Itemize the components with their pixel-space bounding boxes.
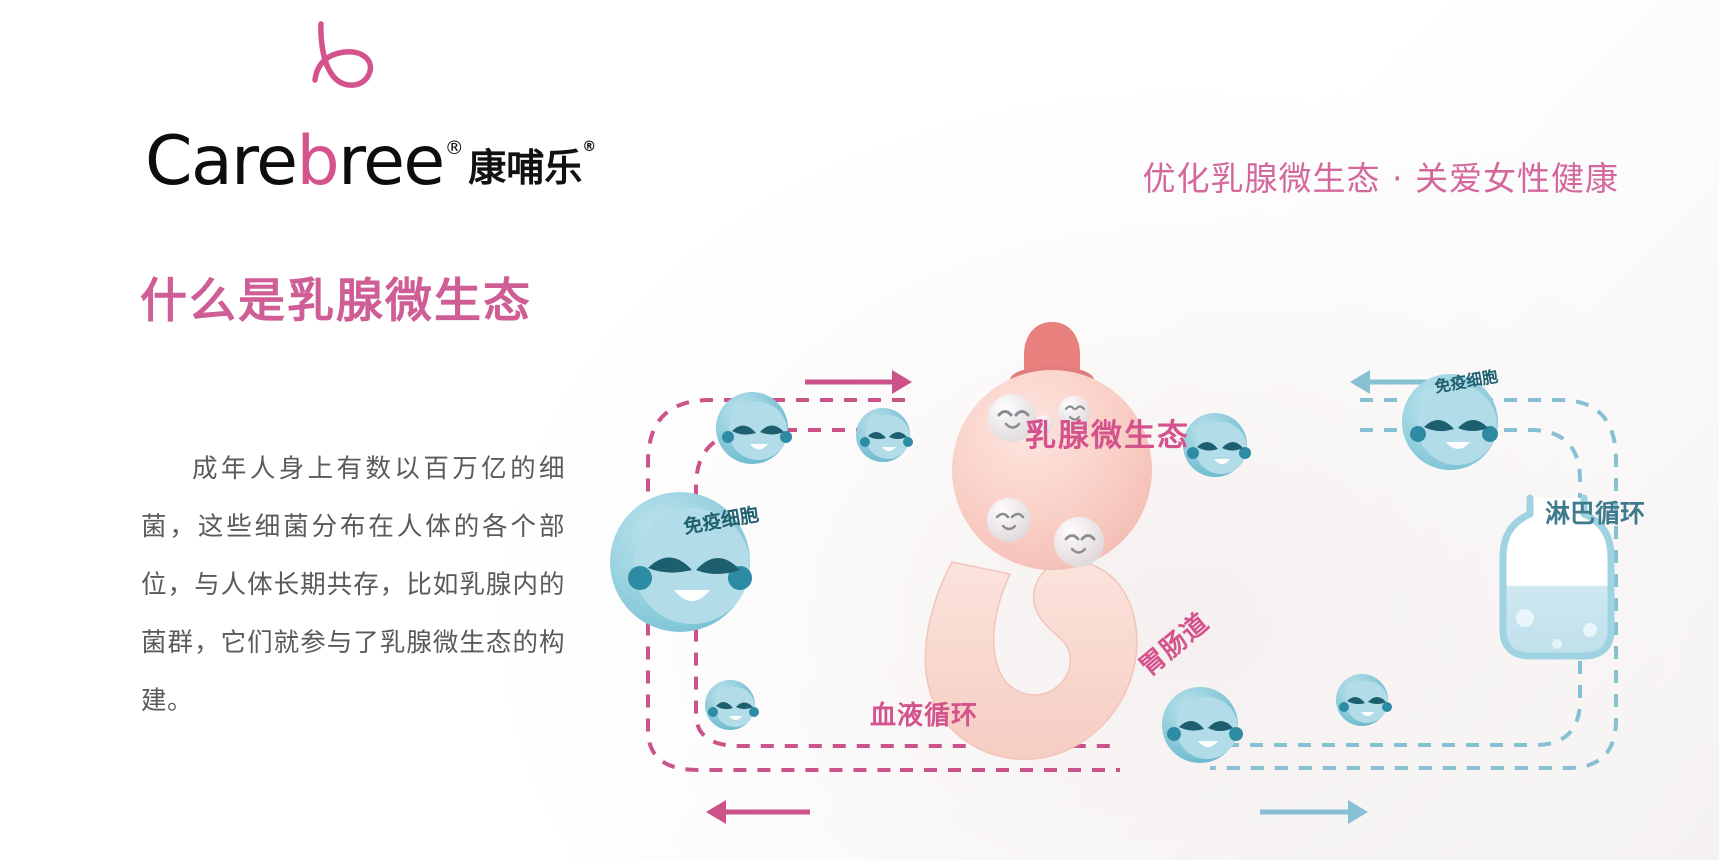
immune-cell-small-3: [705, 680, 759, 730]
gi-tract-illustration: [925, 561, 1137, 759]
page-title: 什么是乳腺微生态: [140, 262, 532, 331]
immune-cell-right-top: [1402, 374, 1498, 470]
immune-cell-right-corner: [1336, 674, 1392, 726]
logo-text-care: Care: [145, 128, 296, 196]
logo-chinese-name: 康哺乐®: [468, 137, 596, 192]
immune-cell-small-2: [856, 408, 913, 462]
lymph-bottle-illustration: [1503, 498, 1611, 656]
logo-chinese-text: 康哺乐: [468, 146, 582, 190]
logo-swoosh-icon: [291, 18, 411, 96]
body-paragraph: 成年人身上有数以百万亿的细菌，这些细菌分布在人体的各个部位，与人体长期共存，比如…: [141, 440, 565, 730]
breast-illustration: [952, 322, 1152, 570]
logo-wordmark: Carebree®: [145, 128, 461, 196]
immune-cell-right-mid: [1183, 413, 1251, 477]
immune-cell-left: [610, 492, 752, 632]
logo-text-b: b: [296, 128, 338, 196]
microbiome-diagram: [600, 300, 1660, 860]
registered-mark-icon: ®: [445, 139, 463, 158]
logo-text-ree: ree: [338, 128, 444, 196]
header-tagline: 优化乳腺微生态 · 关爱女性健康: [1143, 152, 1619, 200]
immune-cell-right-bottom: [1162, 687, 1243, 763]
registered-mark-cn-icon: ®: [582, 139, 596, 155]
brand-logo: Carebree® 康哺乐®: [145, 128, 596, 196]
page-root: Carebree® 康哺乐® 优化乳腺微生态 · 关爱女性健康 什么是乳腺微生态…: [0, 0, 1719, 860]
immune-cell-small-1: [716, 392, 792, 464]
